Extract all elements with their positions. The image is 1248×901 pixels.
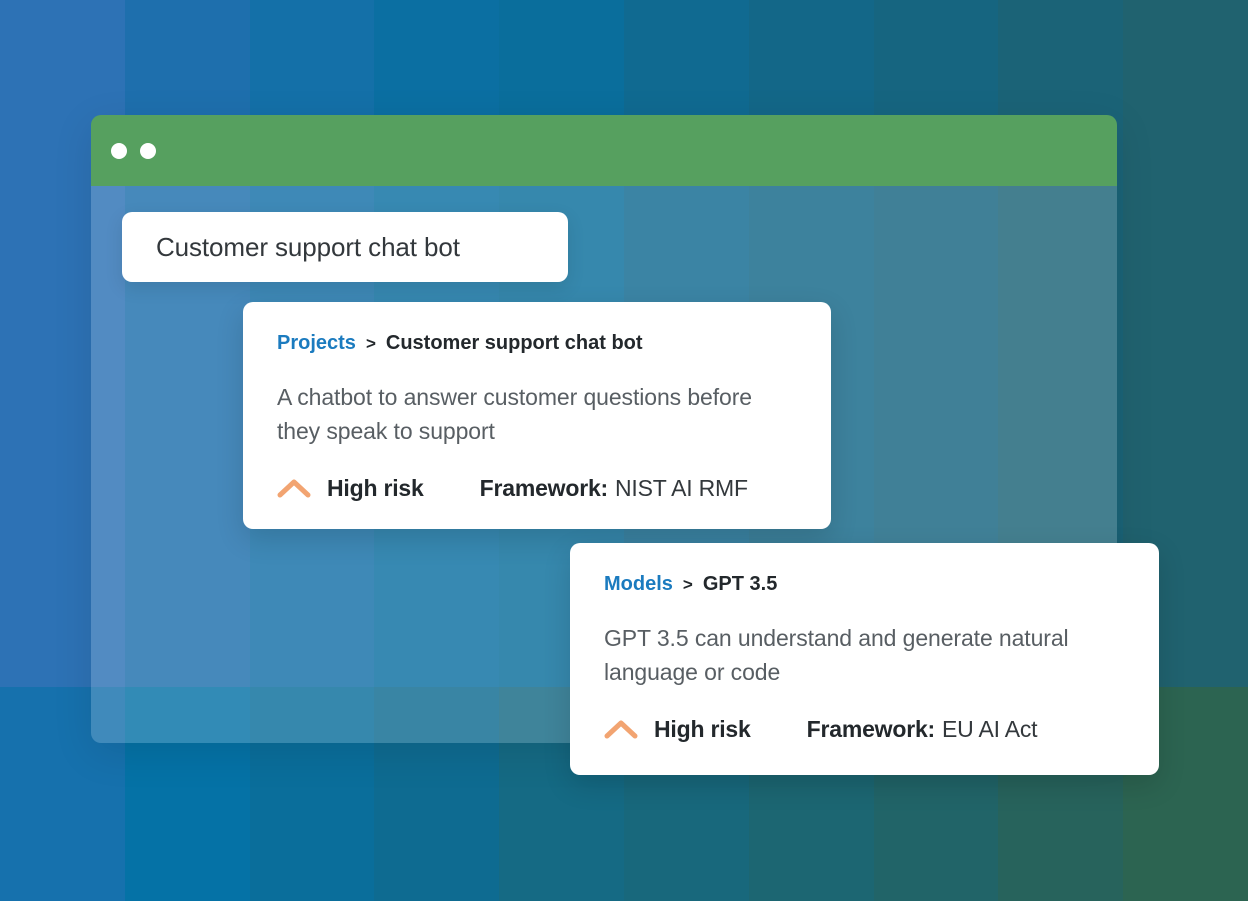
- framework-value: EU AI Act: [942, 716, 1037, 743]
- breadcrumb-current: GPT 3.5: [703, 573, 777, 596]
- breadcrumb: Projects > Customer support chat bot: [277, 332, 797, 355]
- chevron-up-icon: [604, 718, 638, 740]
- card-meta-row: High risk Framework: EU AI Act: [604, 716, 1125, 743]
- window-dot-left-icon[interactable]: [111, 143, 127, 159]
- risk-level-label: High risk: [654, 716, 751, 743]
- breadcrumb: Models > GPT 3.5: [604, 573, 1125, 596]
- framework-label: Framework:: [480, 475, 608, 502]
- risk-indicator: High risk: [604, 716, 751, 743]
- card-meta-row: High risk Framework: NIST AI RMF: [277, 475, 797, 502]
- search-input-value: Customer support chat bot: [156, 232, 460, 263]
- framework-value: NIST AI RMF: [615, 475, 748, 502]
- breadcrumb-root-link[interactable]: Models: [604, 573, 673, 596]
- search-input[interactable]: Customer support chat bot: [122, 212, 568, 282]
- card-description: GPT 3.5 can understand and generate natu…: [604, 622, 1124, 690]
- screenshot-stage: Customer support chat bot Projects > Cus…: [0, 0, 1248, 901]
- framework-info: Framework: NIST AI RMF: [480, 475, 748, 502]
- breadcrumb-current: Customer support chat bot: [386, 332, 643, 355]
- window-title-bar: [91, 115, 1117, 186]
- breadcrumb-separator: >: [366, 334, 376, 354]
- window-dot-right-icon[interactable]: [140, 143, 156, 159]
- result-card-model[interactable]: Models > GPT 3.5 GPT 3.5 can understand …: [570, 543, 1159, 775]
- chevron-up-icon: [277, 477, 311, 499]
- breadcrumb-root-link[interactable]: Projects: [277, 332, 356, 355]
- framework-label: Framework:: [807, 716, 935, 743]
- risk-level-label: High risk: [327, 475, 424, 502]
- result-card-project[interactable]: Projects > Customer support chat bot A c…: [243, 302, 831, 529]
- framework-info: Framework: EU AI Act: [807, 716, 1038, 743]
- card-description: A chatbot to answer customer questions b…: [277, 381, 797, 449]
- risk-indicator: High risk: [277, 475, 424, 502]
- breadcrumb-separator: >: [683, 575, 693, 595]
